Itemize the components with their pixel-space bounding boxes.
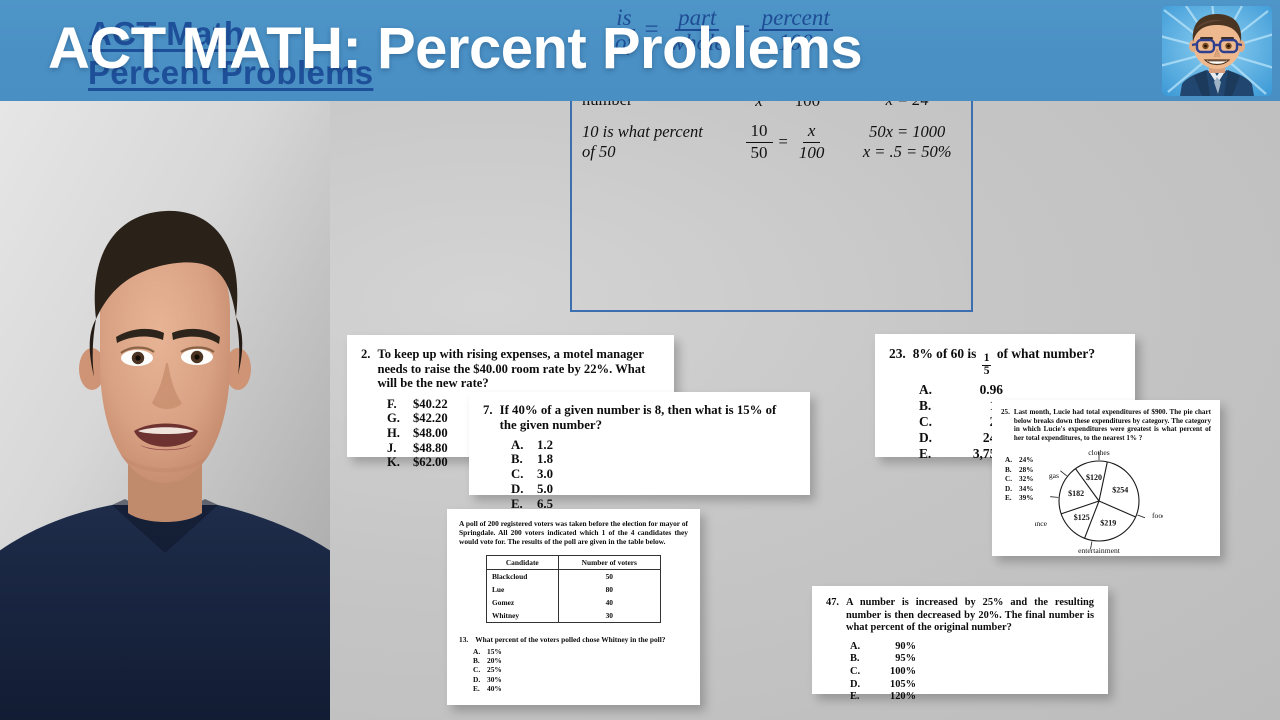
table-row: Blackcloud 50 (487, 570, 661, 584)
choice-value: 105% (876, 679, 916, 692)
choice-label: D. (511, 482, 529, 497)
pie-leader-line (1138, 515, 1146, 518)
choice-list: A.1.2 B.1.8 C.3.0 D.5.0 E.6.5 (511, 438, 796, 512)
pie-value-label: $254 (1113, 486, 1129, 495)
choice-label: A. (511, 438, 529, 453)
choice-label: C. (473, 665, 482, 674)
choice-item: B.28% (1005, 466, 1033, 475)
question-text: Last month, Lucie had total expenditures… (1014, 408, 1211, 442)
question-number: 47. (826, 597, 839, 635)
avatar-illustration (1162, 6, 1272, 96)
prop-den: 50 (746, 143, 773, 162)
pie-value-label: $182 (1068, 489, 1084, 498)
choice-label: B. (1005, 466, 1014, 475)
choice-value: $48.80 (413, 441, 467, 456)
choice-value: $40.22 (413, 397, 467, 412)
choice-item: C.25% (473, 665, 688, 674)
choice-value: 1.8 (537, 452, 553, 467)
choice-item: A.0.96 (919, 382, 1121, 398)
choice-value: 28% (1019, 466, 1033, 475)
pie-category-label-entertainment: entertainment (1079, 546, 1122, 555)
choice-value: $62.00 (413, 455, 467, 470)
cell-voters: 40 (558, 596, 660, 609)
choice-label: A. (850, 641, 868, 654)
question-text-after: of what number? (997, 346, 1095, 361)
choice-item: B.20% (473, 656, 688, 665)
choice-item: E.40% (473, 684, 688, 693)
choice-item: A.90% (850, 641, 1094, 654)
proportion-row: 10 is what percent of 50 10 50 = x 100 (572, 116, 971, 168)
question-line: 2. To keep up with rising expenses, a mo… (361, 347, 660, 391)
pie-chart: $254$219$125$182$120clothesfoodentertain… (1035, 446, 1163, 556)
prop-den: 100 (794, 143, 830, 162)
choice-value: 32% (1019, 475, 1033, 484)
choice-item: E.39% (1005, 494, 1033, 503)
table-row: Lue 80 (487, 583, 661, 596)
choice-item: D.5.0 (511, 482, 796, 497)
choice-label: C. (511, 467, 529, 482)
choice-value: 100% (876, 666, 916, 679)
pie-leader-line (1051, 497, 1059, 498)
proportion-solution: 50x = 1000 x = .5 = 50% (843, 116, 971, 168)
question-text: To keep up with rising expenses, a motel… (377, 347, 660, 391)
problem-card-poll: A poll of 200 registered voters was take… (447, 509, 700, 705)
presenter-webcam (0, 101, 330, 720)
pie-leader-line (1061, 471, 1067, 476)
choice-label: B. (511, 452, 529, 467)
equals-sign: = (779, 132, 788, 152)
choice-item: A.15% (473, 647, 688, 656)
question-line: 23. 8% of 60 is 1 5 of what number? (889, 346, 1121, 377)
cell-candidate: Lue (487, 583, 559, 596)
poll-table: Candidate Number of voters Blackcloud 50… (486, 555, 661, 623)
choice-label: B. (473, 656, 482, 665)
table-row: Whitney 30 (487, 609, 661, 623)
choice-value: $42.20 (413, 411, 467, 426)
pie-category-label-gas: gas (1049, 471, 1059, 480)
pie-category-label-insurance: insurance (1035, 519, 1048, 528)
question-text: A number is increased by 25% and the res… (846, 597, 1094, 635)
pie-value-label: $219 (1101, 519, 1117, 528)
choice-value: $48.00 (413, 426, 467, 441)
choice-label: A. (919, 382, 937, 398)
choice-item: C.100% (850, 666, 1094, 679)
choice-label: A. (1005, 456, 1014, 465)
question-line: 13. What percent of the voters polled ch… (459, 635, 688, 693)
choice-label: D. (919, 430, 937, 446)
choice-label: D. (1005, 485, 1014, 494)
choice-value: 95% (876, 653, 916, 666)
choice-value: 90% (876, 641, 916, 654)
choice-value: 0.96 (945, 382, 1003, 398)
choice-item: C.3.0 (511, 467, 796, 482)
choice-item: B.1.8 (511, 452, 796, 467)
column-header-candidate: Candidate (487, 556, 559, 570)
page-title: ACT MATH: Percent Problems (48, 16, 862, 82)
choice-label: H. (387, 426, 405, 441)
choice-value: 120% (876, 691, 916, 704)
pie-value-label: $125 (1074, 513, 1090, 522)
poll-intro: A poll of 200 registered voters was take… (459, 519, 688, 546)
choice-value: 15% (487, 647, 502, 656)
choice-label: C. (850, 666, 868, 679)
pie-and-choices: A.24% B.28% C.32% D.34% E.39% $254$219$1… (1001, 446, 1211, 556)
choice-label: D. (850, 679, 868, 692)
choice-label: G. (387, 411, 405, 426)
pie-category-label-clothes: clothes (1089, 448, 1111, 457)
choice-label: B. (919, 398, 937, 414)
choice-label: B. (850, 653, 868, 666)
question-text: What percent of the voters polled chose … (475, 635, 665, 644)
prop-num: x (803, 122, 821, 142)
table-row: Gomez 40 (487, 596, 661, 609)
choice-item: D.30% (473, 675, 688, 684)
problem-card-47: 47. A number is increased by 25% and the… (812, 586, 1108, 694)
choice-item: B.95% (850, 653, 1094, 666)
choice-label: E. (473, 684, 482, 693)
choice-item: C.32% (1005, 475, 1033, 484)
prop-num: 10 (746, 122, 773, 142)
choice-label: A. (473, 647, 482, 656)
choice-value: 3.0 (537, 467, 553, 482)
choice-label: E. (1005, 494, 1014, 503)
cell-candidate: Gomez (487, 596, 559, 609)
channel-avatar (1162, 6, 1272, 96)
presenter-portrait (0, 101, 330, 720)
pie-value-label: $120 (1086, 473, 1102, 482)
problem-card-7: 7. If 40% of a given number is 8, then w… (469, 392, 810, 495)
question-line: 7. If 40% of a given number is 8, then w… (483, 403, 796, 433)
question-number: 23. (889, 346, 906, 377)
choice-label: E. (919, 446, 937, 462)
proportion-prompt: 10 is what percent of 50 (572, 116, 732, 168)
cell-candidate: Blackcloud (487, 570, 559, 584)
pie-category-label-food: food (1152, 511, 1163, 520)
choice-value: 39% (1019, 494, 1033, 503)
choice-value: 1.2 (537, 438, 553, 453)
choice-value: 25% (487, 665, 502, 674)
problem-card-25: 25. Last month, Lucie had total expendit… (992, 400, 1220, 556)
choice-list: A.24% B.28% C.32% D.34% E.39% (1005, 456, 1033, 556)
choice-label: E. (850, 691, 868, 704)
question-text-before: 8% of 60 is (913, 346, 977, 361)
cell-candidate: Whitney (487, 609, 559, 623)
pie-chart-svg: $254$219$125$182$120clothesfoodentertain… (1035, 446, 1163, 556)
choice-value: 40% (487, 684, 502, 693)
cell-voters: 30 (558, 609, 660, 623)
choice-item: E.120% (850, 691, 1094, 704)
title-banner: ACT Math Percent Problems is of = part w… (0, 0, 1280, 101)
proportion-equation: 10 50 = x 100 (732, 116, 844, 168)
choice-value: 34% (1019, 485, 1033, 494)
choice-item: A.24% (1005, 456, 1033, 465)
choice-item: D.105% (850, 679, 1094, 692)
video-frame: what is 20% of 40 x 40 = 20 100 (0, 0, 1280, 720)
question-number: 2. (361, 347, 370, 391)
choice-label: D. (473, 675, 482, 684)
choice-label: F. (387, 397, 405, 412)
column-header-voters: Number of voters (558, 556, 660, 570)
one-fifth-fraction: 1 5 (982, 353, 992, 377)
choice-label: K. (387, 455, 405, 470)
question-line: 25. Last month, Lucie had total expendit… (1001, 408, 1211, 442)
choice-item: A.1.2 (511, 438, 796, 453)
choice-value: 20% (487, 656, 502, 665)
choice-label: C. (1005, 475, 1014, 484)
question-number: 25. (1001, 408, 1010, 442)
choice-list: A.15% B.20% C.25% D.30% E.40% (473, 647, 688, 693)
question-line: 47. A number is increased by 25% and the… (826, 597, 1094, 635)
question-text: If 40% of a given number is 8, then what… (500, 403, 796, 433)
choice-item: D.34% (1005, 485, 1033, 494)
question-text: 8% of 60 is 1 5 of what number? (913, 346, 1095, 377)
choice-label: J. (387, 441, 405, 456)
choice-label: C. (919, 414, 937, 430)
table-header-row: Candidate Number of voters (487, 556, 661, 570)
choice-list: A.90% B.95% C.100% D.105% E.120% (850, 641, 1094, 704)
cell-voters: 80 (558, 583, 660, 596)
choice-value: 24% (1019, 456, 1033, 465)
choice-value: 30% (487, 675, 502, 684)
cell-voters: 50 (558, 570, 660, 584)
question-number: 7. (483, 403, 493, 433)
choice-value: 5.0 (537, 482, 553, 497)
question-number: 13. (459, 635, 468, 644)
